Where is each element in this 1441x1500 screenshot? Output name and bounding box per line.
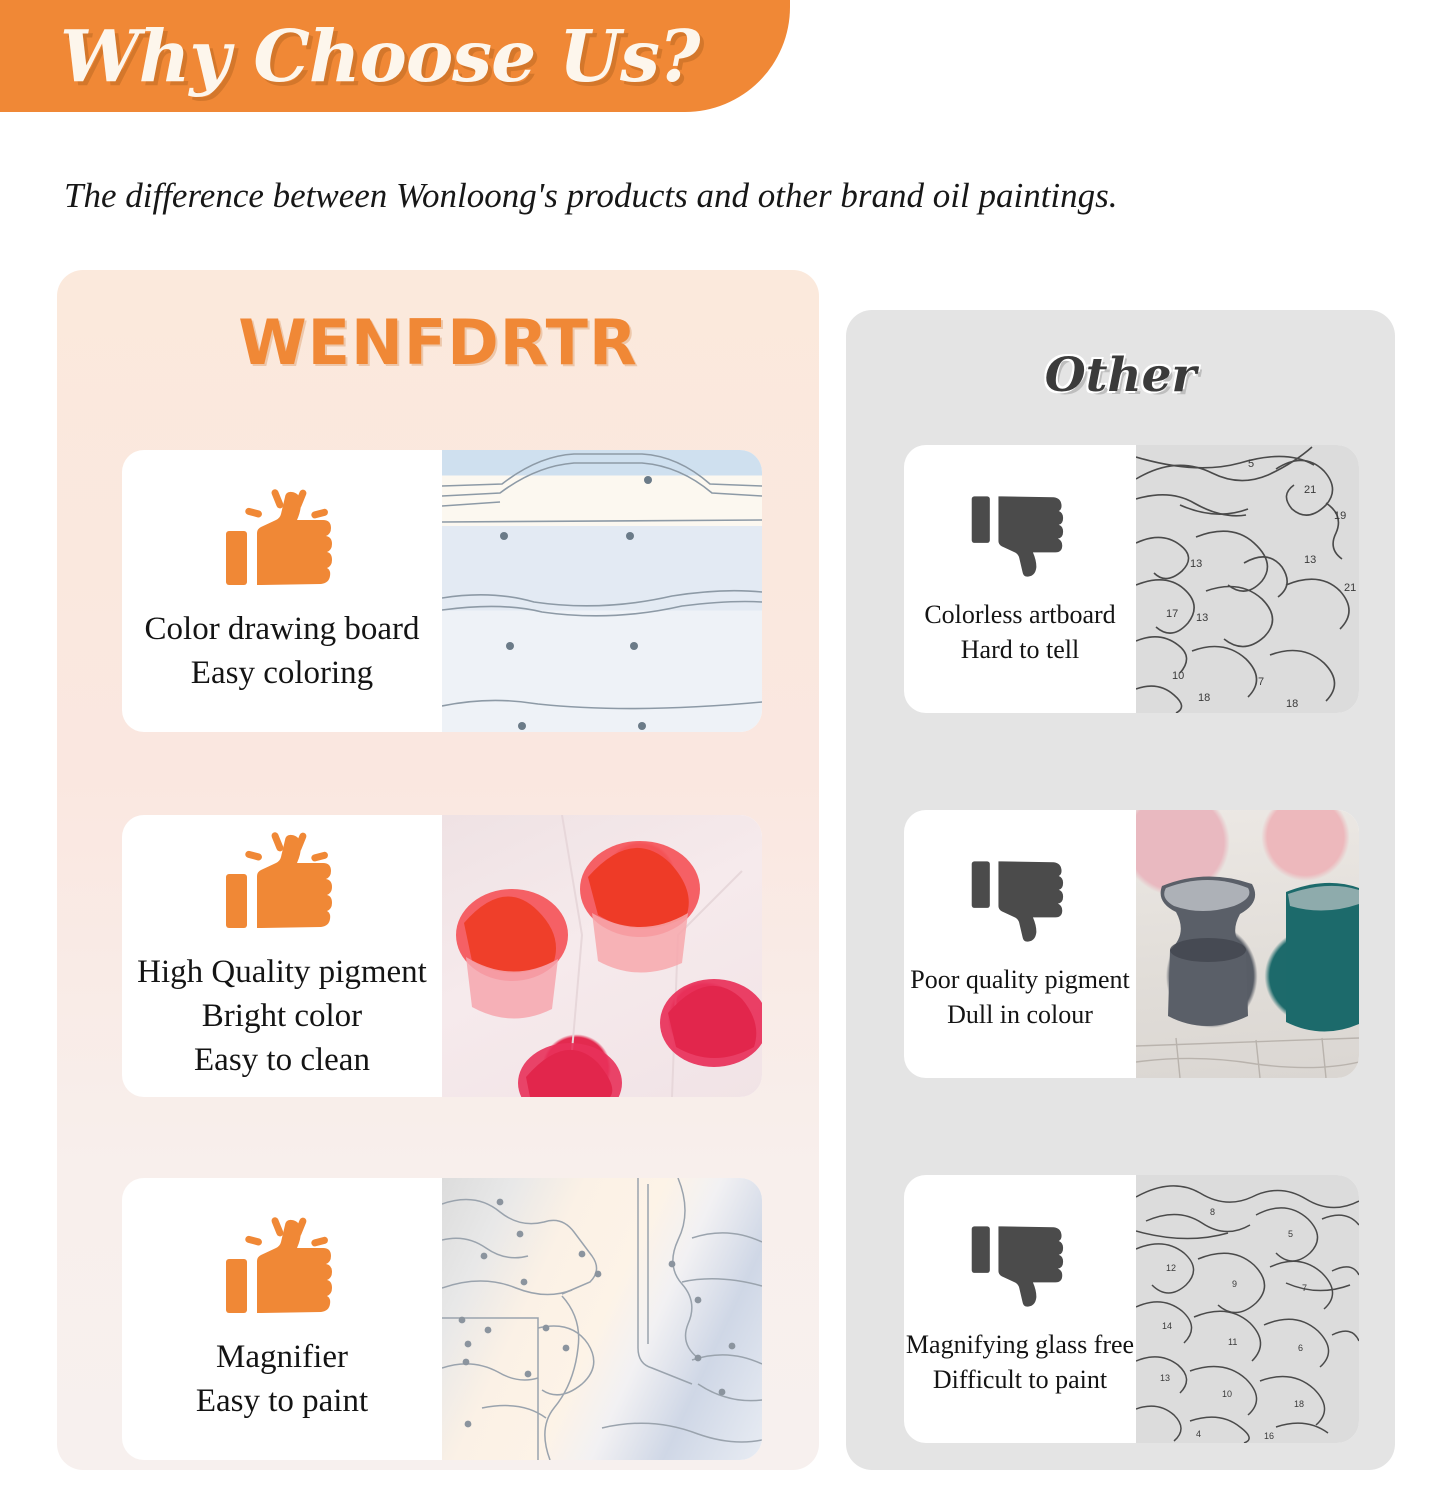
ours-feature-1-text: Color drawing board Easy coloring [122,450,442,732]
svg-text:10: 10 [1222,1389,1232,1399]
svg-text:13: 13 [1190,558,1202,570]
page-title: Why Choose Us? [60,14,700,98]
other-feature-3-caption: Magnifying glass free Difficult to paint [906,1328,1134,1398]
svg-text:8: 8 [1210,1207,1215,1217]
other-feature-2-text: Poor quality pigment Dull in colour [904,810,1136,1078]
ours-feature-2-caption: High Quality pigment Bright color Easy t… [137,950,427,1083]
svg-text:12: 12 [1166,1263,1176,1273]
svg-text:10: 10 [1172,670,1184,682]
ours-feature-1-caption: Color drawing board Easy coloring [145,607,420,695]
other-panel: Other Colorless artboard Hard to tell [846,310,1395,1470]
thumbs-down-icon [970,490,1070,582]
color-artboard-image [442,450,762,732]
svg-text:5: 5 [1288,1229,1293,1239]
infographic-page: Why Choose Us? The difference between Wo… [0,0,1441,1500]
svg-text:18: 18 [1294,1399,1304,1409]
other-feature-card-1: Colorless artboard Hard to tell [904,445,1359,713]
ours-feature-3-text: Magnifier Easy to paint [122,1178,442,1460]
other-feature-2-caption: Poor quality pigment Dull in colour [910,963,1130,1033]
other-feature-1-caption: Colorless artboard Hard to tell [924,598,1115,668]
ours-brand-heading: WENFDRTR [57,306,819,379]
svg-text:9: 9 [1232,1279,1237,1289]
thumbs-up-icon [224,1215,340,1319]
svg-text:18: 18 [1198,692,1210,704]
svg-text:13: 13 [1304,554,1316,566]
svg-text:21: 21 [1304,484,1316,496]
ours-feature-3-caption: Magnifier Easy to paint [196,1335,368,1423]
ours-feature-2-text: High Quality pigment Bright color Easy t… [122,815,442,1097]
other-feature-3-text: Magnifying glass free Difficult to paint [904,1175,1136,1443]
magnifier-artboard-image [442,1178,762,1460]
svg-text:21: 21 [1344,582,1356,594]
svg-text:14: 14 [1162,1321,1172,1331]
header-banner: Why Choose Us? [0,0,790,112]
svg-text:13: 13 [1160,1373,1170,1383]
other-feature-1-text: Colorless artboard Hard to tell [904,445,1136,713]
svg-text:17: 17 [1166,608,1178,620]
svg-text:13: 13 [1196,612,1208,624]
other-brand-heading: Other [846,348,1395,403]
svg-text:6: 6 [1298,1343,1303,1353]
gray-outline-artboard-image: 5 21 19 13 13 21 17 13 10 18 7 18 [1136,445,1359,713]
thumbs-up-icon [224,830,340,934]
page-subtitle: The difference between Wonloong's produc… [64,176,1118,216]
ours-feature-card-1: Color drawing board Easy coloring [122,450,762,732]
ours-panel: WENFDRTR [57,270,819,1470]
ours-feature-card-2: High Quality pigment Bright color Easy t… [122,815,762,1097]
svg-text:19: 19 [1334,510,1346,522]
svg-text:7: 7 [1258,676,1264,688]
gray-outline-sketch-image: 85 129 714 116 1310 184 16 [1136,1175,1359,1443]
thumbs-up-icon [224,487,340,591]
svg-text:4: 4 [1196,1429,1201,1439]
ours-feature-card-3: Magnifier Easy to paint [122,1178,762,1460]
other-feature-card-3: Magnifying glass free Difficult to paint [904,1175,1359,1443]
thumbs-down-icon [970,855,1070,947]
svg-text:7: 7 [1302,1283,1307,1293]
svg-text:18: 18 [1286,698,1298,710]
other-feature-card-2: Poor quality pigment Dull in colour [904,810,1359,1078]
svg-text:16: 16 [1264,1431,1274,1441]
svg-text:11: 11 [1228,1337,1237,1347]
svg-text:5: 5 [1248,458,1254,470]
thumbs-down-icon [970,1220,1070,1312]
dull-paint-pots-photo [1136,810,1359,1078]
bright-paint-pots-photo [442,815,762,1097]
